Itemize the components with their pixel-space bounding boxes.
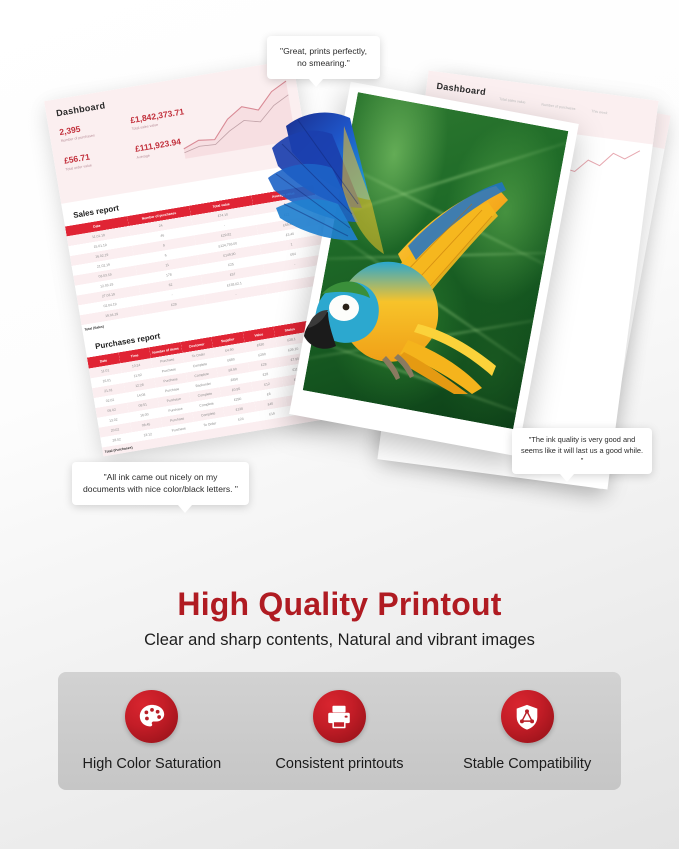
feature-icon-circle: [125, 690, 178, 743]
feature-highlights-bar: High Color Saturation Consistent printou…: [58, 672, 621, 790]
product-marketing-page: Dashboard Total sales value Number of pu…: [0, 0, 679, 849]
feature-consistent-printouts: Consistent printouts: [247, 690, 433, 772]
testimonial-callout-left: "All ink came out nicely on my documents…: [72, 462, 249, 505]
page-headline: High Quality Printout: [0, 586, 679, 623]
kpi-card: £56.71 Total order value: [63, 146, 123, 171]
feature-label: Consistent printouts: [275, 756, 403, 772]
page-subheadline: Clear and sharp contents, Natural and vi…: [0, 631, 679, 650]
right-metric-2: This week: [591, 109, 608, 115]
shield-compatibility-icon: [512, 702, 542, 732]
feature-icon-circle: [501, 690, 554, 743]
right-sheet-title: Dashboard: [436, 81, 487, 97]
feature-label: High Color Saturation: [83, 756, 222, 772]
right-metric-1: Number of purchases: [541, 103, 576, 111]
feature-icon-circle: [313, 690, 366, 743]
testimonial-callout-right: "The ink quality is very good and seems …: [512, 428, 652, 474]
feature-label: Stable Compatibility: [463, 756, 591, 772]
feature-high-color-saturation: High Color Saturation: [59, 690, 245, 772]
print-sample-collage: Dashboard Total sales value Number of pu…: [0, 0, 679, 559]
printer-icon: [324, 702, 354, 732]
testimonial-callout-top: "Great, prints perfectly, no smearing.": [267, 36, 380, 79]
feature-stable-compatibility: Stable Compatibility: [434, 690, 620, 772]
macaw-parrot-illustration: [258, 104, 518, 394]
kpi-card: 2,395 Number of purchases: [59, 118, 119, 143]
color-palette-icon: [137, 702, 167, 732]
macaw-left-wing: [268, 112, 384, 254]
